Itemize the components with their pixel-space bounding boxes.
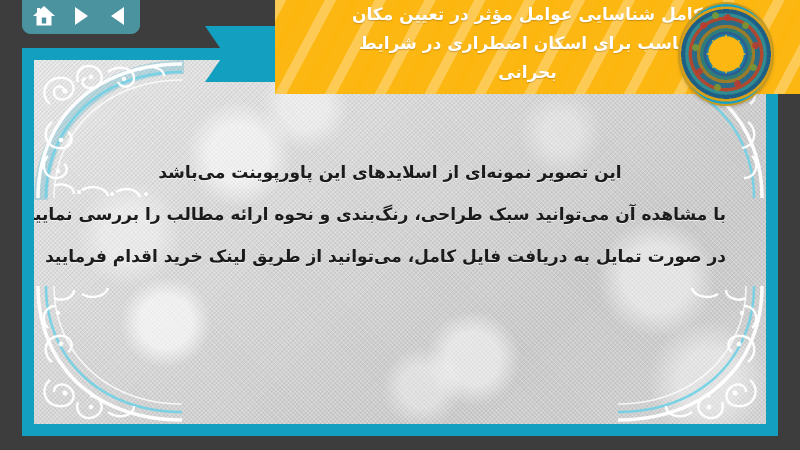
slide-canvas: این تصویر نمونه‌ای از اسلایدهای این پاور… (34, 60, 766, 424)
title-line-2: مناسب برای اسکان اضطراری در شرایط (359, 30, 696, 59)
arabesque-corner-ornament-bottom-right (616, 284, 766, 424)
title-ribbon: کامل شناسایی عوامل مؤثر در تعیین مکان من… (205, 0, 800, 108)
body-line-3: در صورت تمایل به دریافت فایل کامل، می‌تو… (54, 236, 726, 278)
ribbon-tail (205, 26, 285, 82)
forward-button[interactable] (66, 3, 96, 29)
body-line-2: با مشاهده آن می‌توانید سبک طراحی، رنگ‌بن… (54, 194, 726, 236)
navigation-bar (22, 0, 140, 34)
home-icon (32, 5, 56, 27)
eight-point-star-icon (706, 34, 746, 74)
title-line-3: بحرانی (498, 59, 557, 88)
body-line-1: این تصویر نمونه‌ای از اسلایدهای این پاور… (54, 152, 726, 194)
triangle-left-icon (111, 7, 124, 25)
back-button[interactable] (103, 3, 133, 29)
triangle-right-icon (75, 7, 88, 25)
slide-viewer: این تصویر نمونه‌ای از اسلایدهای این پاور… (0, 0, 800, 450)
persian-medallion-icon (680, 4, 772, 104)
slide-body-text: این تصویر نمونه‌ای از اسلایدهای این پاور… (54, 152, 726, 278)
home-button[interactable] (29, 3, 59, 29)
title-line-1: کامل شناسایی عوامل مؤثر در تعیین مکان (352, 1, 703, 30)
arabesque-corner-ornament-bottom-left (34, 284, 184, 424)
